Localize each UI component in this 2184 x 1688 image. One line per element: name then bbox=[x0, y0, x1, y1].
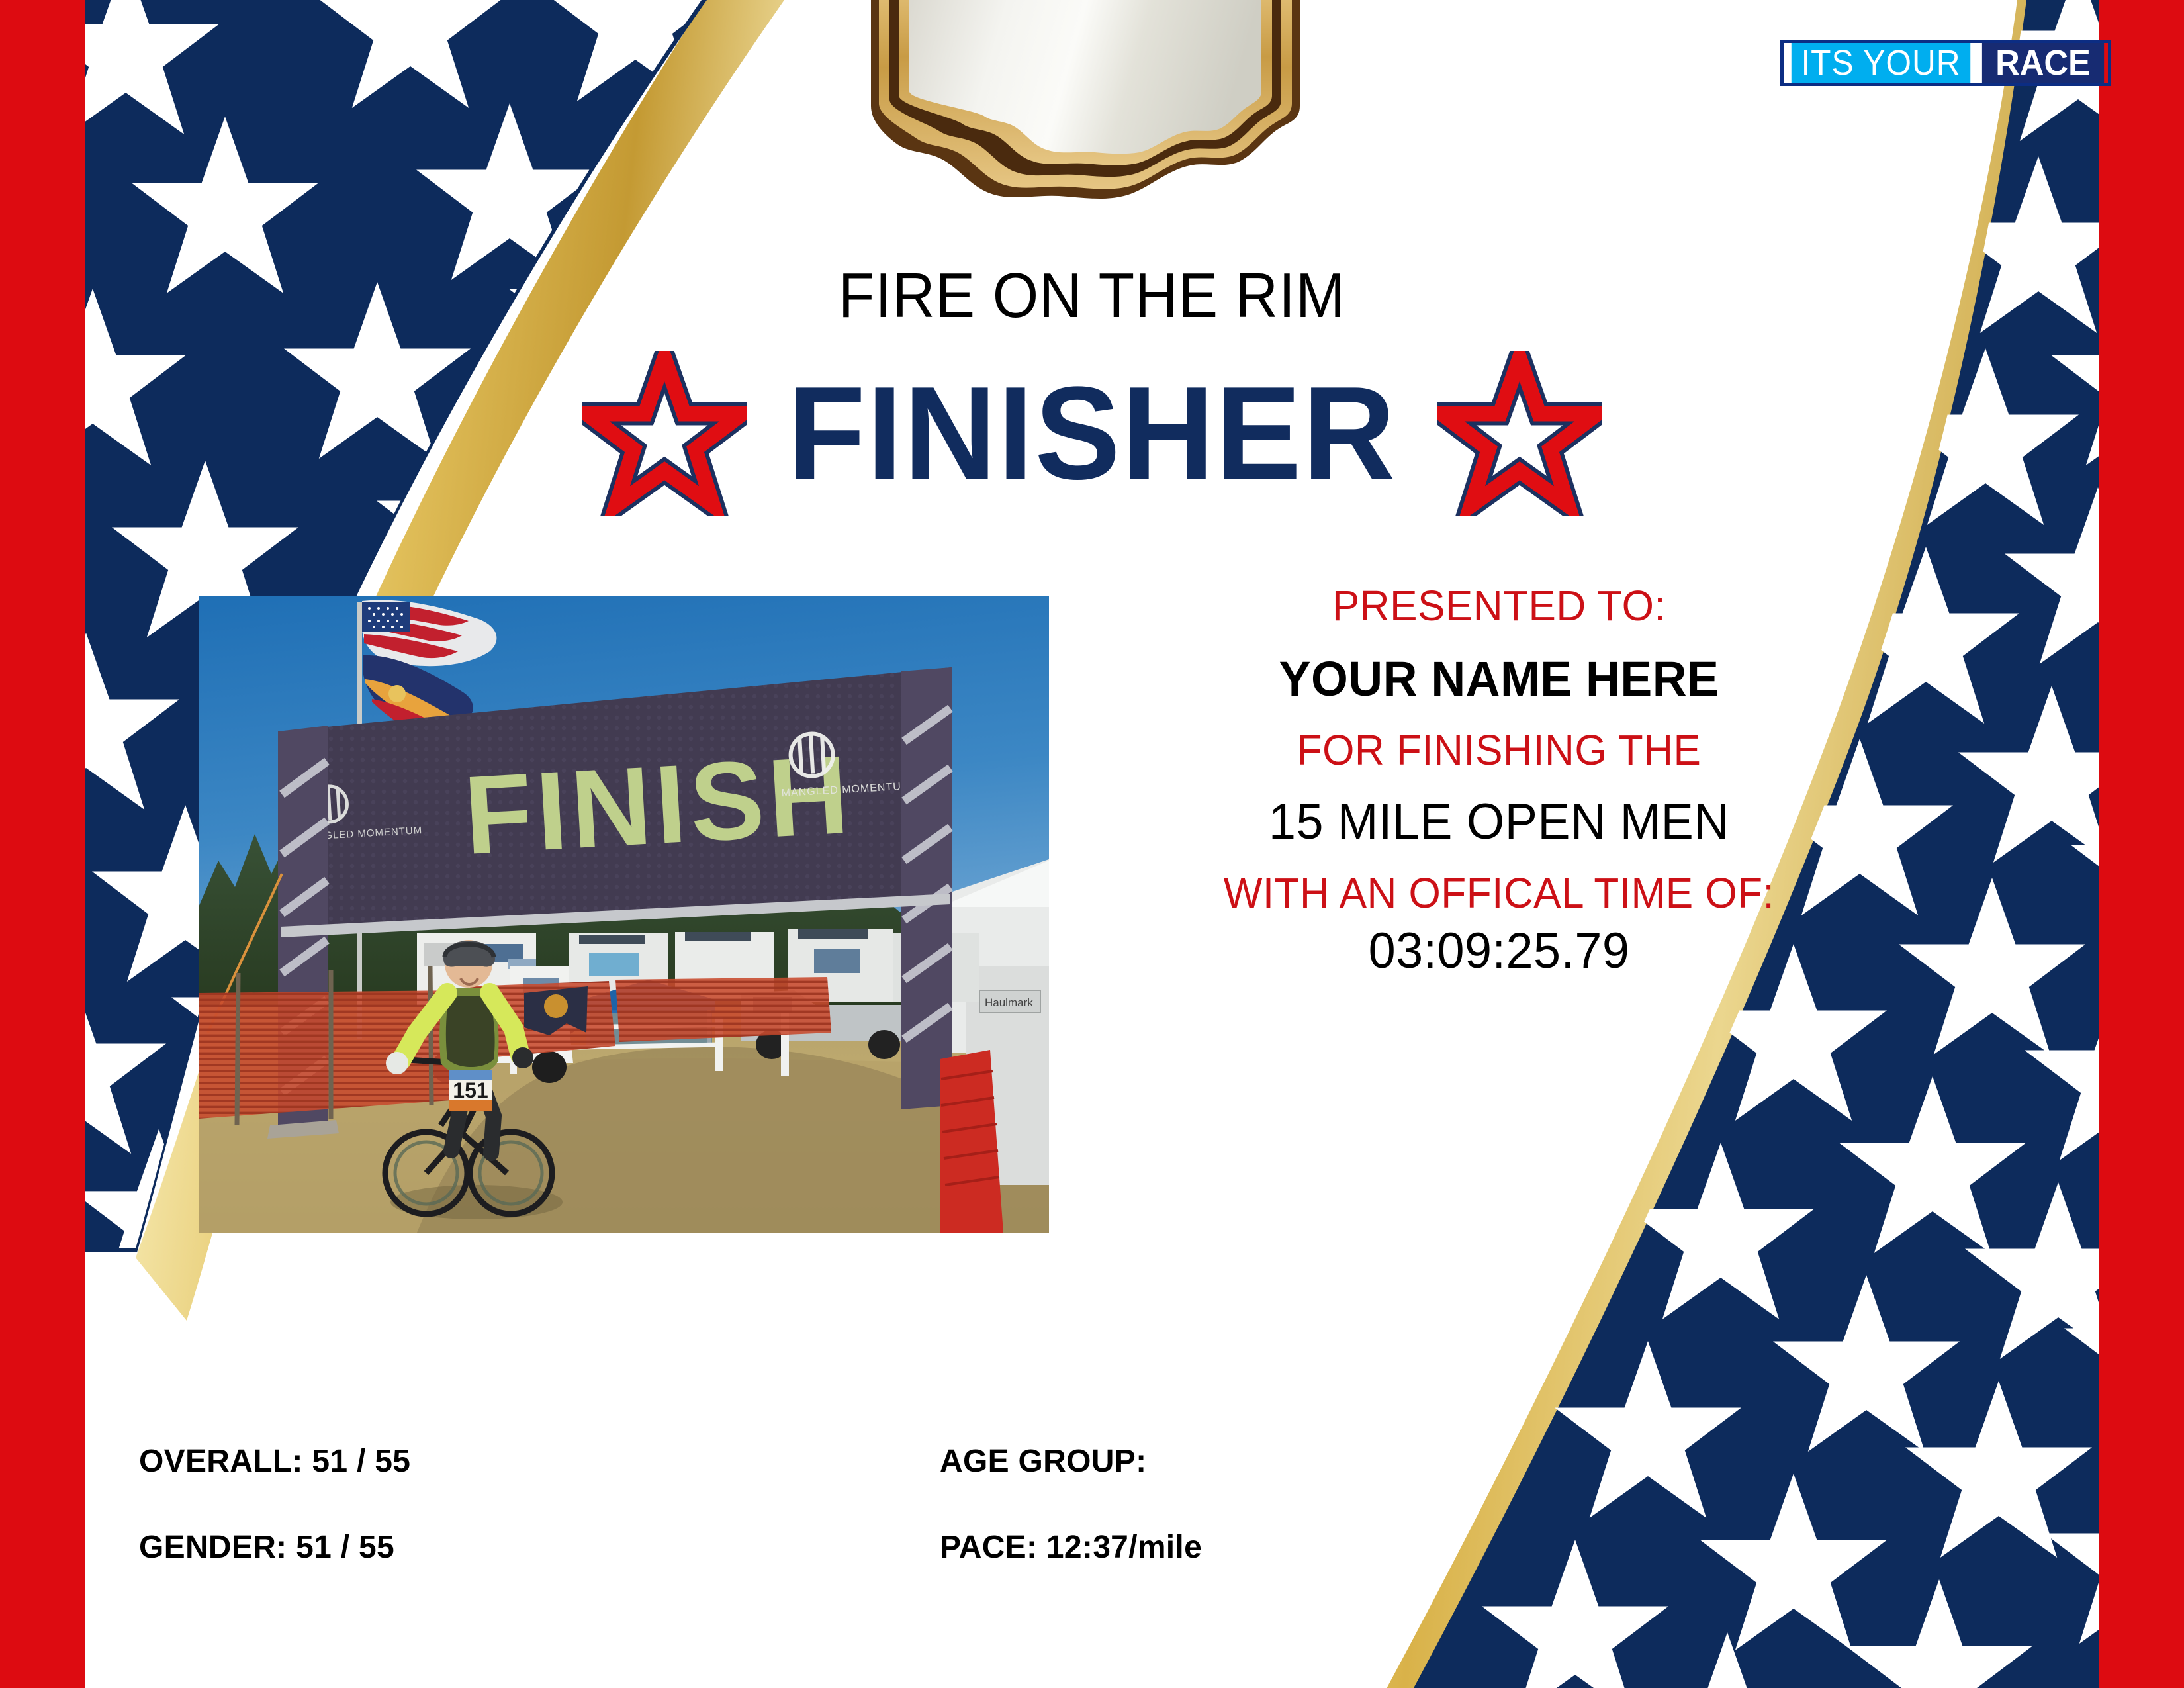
badge-shield-frame: ITS YOUR RACE bbox=[860, 0, 1310, 207]
result-stats: OVERALL: 51 / 55 AGE GROUP: GENDER: 51 /… bbox=[139, 1443, 1330, 1615]
stat-age-group: AGE GROUP: bbox=[940, 1443, 1330, 1529]
award-details: PRESENTED TO: YOUR NAME HERE FOR FINISHI… bbox=[1072, 581, 1926, 984]
finisher-title-row: FINISHER bbox=[0, 351, 2184, 516]
official-time-value: 03:09:25.79 bbox=[1085, 919, 1913, 984]
its-your-race-logo[interactable]: ITS YOUR RACE bbox=[1780, 40, 2111, 86]
stat-pace: PACE: 12:37/mile bbox=[940, 1529, 1330, 1615]
right-red-stripe bbox=[2099, 0, 2184, 1688]
official-time-label: WITH AN OFFICAL TIME OF: bbox=[1085, 868, 1913, 919]
shield-badge-icon bbox=[860, 0, 1310, 207]
race-name-heading: FIRE ON THE RIM bbox=[77, 259, 2108, 332]
left-red-stripe bbox=[0, 0, 85, 1688]
stat-overall: OVERALL: 51 / 55 bbox=[139, 1443, 940, 1529]
spacer-2 bbox=[1072, 711, 1926, 726]
spacer-3 bbox=[1072, 775, 1926, 790]
spacer-4 bbox=[1072, 855, 1926, 868]
finish-banner-text: FINISH bbox=[461, 731, 856, 877]
five-point-star-icon-left bbox=[582, 351, 747, 516]
finisher-certificate: ITS YOUR RACE FIRE ON THE RIM FINISHER bbox=[0, 0, 2184, 1688]
presented-to-label: PRESENTED TO: bbox=[1085, 581, 1913, 632]
page-title: FINISHER bbox=[788, 367, 1397, 500]
spacer-1 bbox=[1072, 632, 1926, 647]
five-point-star-icon-right bbox=[1437, 351, 1602, 516]
recipient-name: YOUR NAME HERE bbox=[1085, 647, 1913, 711]
trailer-label: Haulmark bbox=[985, 996, 1033, 1009]
race-finish-line-photo: Haulmark bbox=[199, 596, 1049, 1233]
for-finishing-label: FOR FINISHING THE bbox=[1085, 726, 1913, 776]
logo-race-text: RACE bbox=[1982, 43, 2104, 83]
stat-gender: GENDER: 51 / 55 bbox=[139, 1529, 940, 1615]
logo-its-your-text: ITS YOUR bbox=[1792, 43, 1970, 83]
event-name: 15 MILE OPEN MEN bbox=[1085, 790, 1913, 855]
bib-number: 151 bbox=[453, 1078, 488, 1102]
